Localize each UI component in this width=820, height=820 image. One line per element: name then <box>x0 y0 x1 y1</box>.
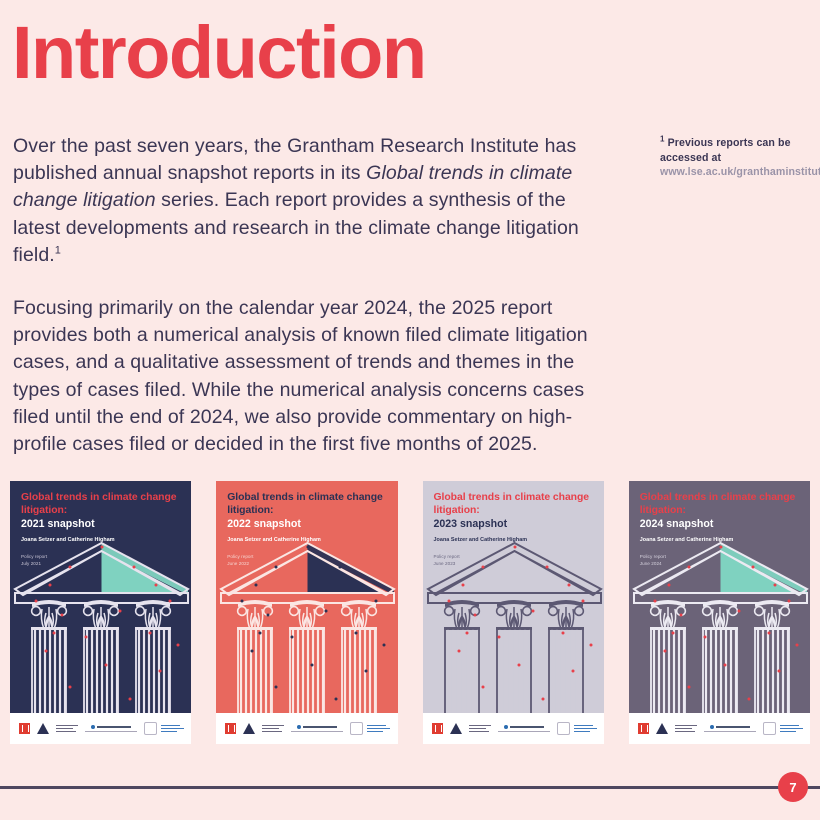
sabin-center-logo <box>557 722 597 735</box>
page-title: Introduction <box>12 16 426 90</box>
grantham-research-institute-logo <box>262 725 284 732</box>
columbia-law-school-logo <box>85 725 137 732</box>
lse-logo <box>225 723 236 734</box>
cover-artwork: Global trends in climate change litigati… <box>216 481 397 713</box>
footnote: 1 Previous reports can be accessed at ww… <box>660 136 810 180</box>
report-cover-2022[interactable]: Global trends in climate change litigati… <box>216 481 397 744</box>
columbia-law-school-logo <box>498 725 550 732</box>
cover-logo-band <box>216 713 397 744</box>
grantham-research-institute-logo <box>56 725 78 732</box>
cover-logo-band <box>629 713 810 744</box>
grantham-triangle-icon <box>450 723 462 734</box>
sabin-center-logo <box>144 722 184 735</box>
grantham-triangle-icon <box>243 723 255 734</box>
grantham-research-institute-logo <box>469 725 491 732</box>
cover-artwork: Global trends in climate change litigati… <box>423 481 604 713</box>
document-page: Introduction Over the past seven years, … <box>0 0 820 820</box>
report-covers-row: Global trends in climate change litigati… <box>10 481 810 744</box>
cover-logo-band <box>10 713 191 744</box>
columbia-law-school-logo <box>704 725 756 732</box>
sabin-center-logo <box>350 722 390 735</box>
temple-illustration <box>10 541 191 713</box>
temple-illustration <box>216 541 397 713</box>
report-cover-2023[interactable]: Global trends in climate change litigati… <box>423 481 604 744</box>
cover-title: Global trends in climate change litigati… <box>21 492 183 518</box>
sabin-ring-icon <box>557 722 570 735</box>
columbia-law-school-logo <box>291 725 343 732</box>
report-cover-2021[interactable]: Global trends in climate change litigati… <box>10 481 191 744</box>
report-cover-2024[interactable]: Global trends in climate change litigati… <box>629 481 810 744</box>
footnote-marker: 1 <box>55 244 61 256</box>
footnote-url[interactable]: www.lse.ac.uk/granthaminstitute/litigati… <box>660 166 820 178</box>
page-number-badge: 7 <box>778 772 808 802</box>
cover-title: Global trends in climate change litigati… <box>434 492 596 518</box>
sabin-ring-icon <box>144 722 157 735</box>
footer-divider <box>0 786 820 789</box>
grantham-triangle-icon <box>37 723 49 734</box>
paragraph-1: Over the past seven years, the Grantham … <box>13 133 608 269</box>
cover-year: 2024 snapshot <box>640 518 714 530</box>
lse-logo <box>432 723 443 734</box>
footnote-text: Previous reports can be accessed at <box>660 137 791 164</box>
grantham-research-institute-logo <box>675 725 697 732</box>
cover-logo-band <box>423 713 604 744</box>
cover-title: Global trends in climate change litigati… <box>640 492 802 518</box>
cover-year: 2022 snapshot <box>227 518 301 530</box>
paragraph-2: Focusing primarily on the calendar year … <box>13 295 608 458</box>
temple-illustration <box>423 541 604 713</box>
sabin-ring-icon <box>350 722 363 735</box>
sabin-center-logo <box>763 722 803 735</box>
body-column: Over the past seven years, the Grantham … <box>13 133 608 458</box>
temple-illustration <box>629 541 810 713</box>
footnote-number: 1 <box>660 134 665 143</box>
sabin-ring-icon <box>763 722 776 735</box>
cover-artwork: Global trends in climate change litigati… <box>629 481 810 713</box>
lse-logo <box>638 723 649 734</box>
grantham-triangle-icon <box>656 723 668 734</box>
cover-year: 2023 snapshot <box>434 518 508 530</box>
cover-title: Global trends in climate change litigati… <box>227 492 389 518</box>
cover-artwork: Global trends in climate change litigati… <box>10 481 191 713</box>
lse-logo <box>19 723 30 734</box>
cover-year: 2021 snapshot <box>21 518 95 530</box>
